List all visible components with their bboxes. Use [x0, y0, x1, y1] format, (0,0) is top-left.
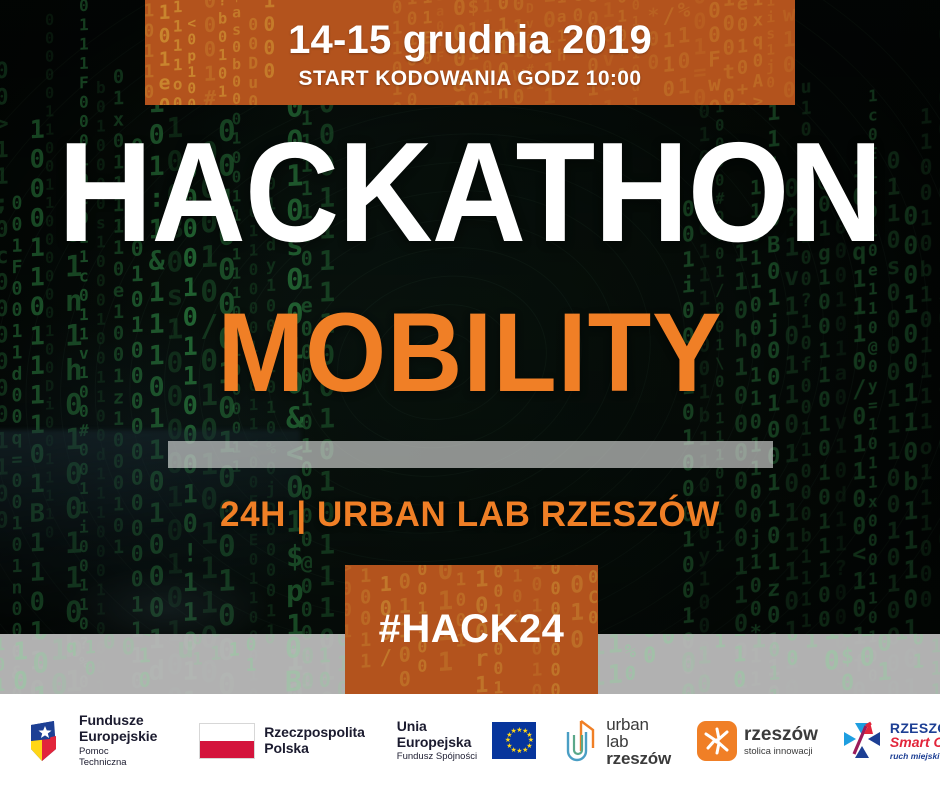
logo-label-line2: rzeszów — [606, 750, 671, 767]
logo-rzeczpospolita-polska: Rzeczpospolita Polska — [199, 723, 365, 759]
logo-label-line2: Smart City — [890, 735, 940, 750]
logo-rzeszow-stolica-innowacji: rzeszów stolica innowacji — [697, 721, 818, 761]
smart-city-icon — [840, 720, 884, 762]
logo-fundusze-europejskie: Fundusze Europejskie Pomoc Techniczna — [26, 713, 157, 768]
logo-label-line2: Polska — [264, 741, 365, 757]
logo-label-line1: RZESZÓW — [890, 721, 940, 736]
date-banner: ;10110010&101101e0&00:0001111o0<0p100100… — [145, 0, 795, 105]
polish-flag-icon — [199, 723, 255, 759]
event-date: 14-15 grudnia 2019 — [288, 19, 652, 61]
fundusze-europejskie-icon — [26, 719, 70, 763]
sponsor-logo-bar: Fundusze Europejskie Pomoc Techniczna Rz… — [0, 694, 940, 788]
logo-sublabel: ruch miejski — [890, 751, 940, 761]
logo-label-line1: rzeszów — [744, 725, 818, 744]
venue-line: 24H | URBAN LAB RZESZÓW — [0, 495, 940, 535]
logo-urban-lab-rzeszow: urban lab rzeszów — [562, 716, 671, 767]
logo-label-line1: Rzeczpospolita — [264, 725, 365, 741]
logo-rzeszow-smart-city: RZESZÓW Smart City ruch miejski — [840, 720, 940, 762]
logo-label-line2: Europejskie — [79, 729, 157, 745]
page-subtitle: MOBILITY — [33, 300, 907, 406]
logo-sublabel: stolica innowacji — [744, 746, 818, 757]
hashtag-box: 0>00110011100/1011000011000111110011100r… — [345, 565, 598, 694]
divider-bar — [168, 441, 773, 468]
rzeszow-city-icon — [697, 721, 737, 761]
logo-label-line1: Unia Europejska — [397, 719, 483, 750]
logo-label-line1: urban lab — [606, 716, 671, 750]
logo-label-line1: Fundusze — [79, 713, 157, 729]
eu-flag-icon: ★★★★★★★★★★★★ — [492, 722, 537, 759]
event-poster: 00>11;0c0000001100001F0011d00q=00101n000… — [0, 0, 940, 788]
page-title: HACKATHON — [38, 128, 903, 259]
logo-sublabel: Pomoc Techniczna — [79, 746, 157, 769]
urban-lab-icon — [562, 718, 598, 764]
hashtag-text: #HACK24 — [379, 607, 565, 652]
event-start-time: START KODOWANIA GODZ 10:00 — [299, 67, 642, 91]
logo-sublabel: Fundusz Spójności — [397, 751, 477, 762]
logo-unia-europejska: Unia Europejska Fundusz Spójności ★★★★★★… — [397, 719, 536, 763]
